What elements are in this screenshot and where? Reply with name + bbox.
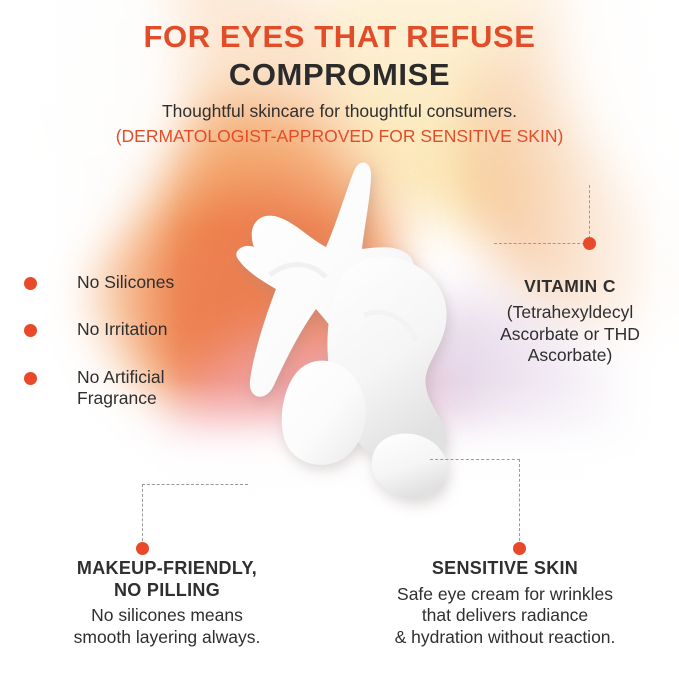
dermatologist-note: (DERMATOLOGIST-APPROVED FOR SENSITIVE SK… (0, 126, 679, 148)
leader-segment-horizontal (430, 459, 520, 460)
list-item[interactable]: No Silicones (50, 272, 174, 293)
callout-body: No silicones means smooth layering alway… (22, 605, 312, 649)
headline-secondary: COMPROMISE (0, 57, 679, 93)
callout-sensitive-skin: SENSITIVE SKIN Safe eye cream for wrinkl… (340, 558, 670, 649)
subheadline: Thoughtful skincare for thoughtful consu… (0, 101, 679, 123)
callout-subtitle: (Tetrahexyldecyl Ascorbate or THD Ascorb… (470, 302, 670, 367)
leader-segment-vertical (519, 459, 520, 546)
callout-title: MAKEUP-FRIENDLY, NO PILLING (22, 558, 312, 601)
leader-segment-vertical (589, 185, 590, 244)
list-item-label: No Silicones (50, 272, 174, 293)
callout-title: VITAMIN C (470, 276, 670, 297)
list-item-label: No Irritation (50, 319, 174, 340)
callout-vitamin-c: VITAMIN C (Tetrahexyldecyl Ascorbate or … (470, 276, 670, 367)
list-item[interactable]: No Artificial Fragrance (50, 367, 174, 410)
list-item[interactable]: No Irritation (50, 319, 174, 340)
headline-primary: FOR EYES THAT REFUSE (0, 20, 679, 55)
callout-dot-vitamin-c[interactable] (583, 237, 596, 250)
header-block: FOR EYES THAT REFUSE COMPROMISE Thoughtf… (0, 20, 679, 148)
callout-dot-makeup[interactable] (136, 542, 149, 555)
leader-segment-horizontal (494, 243, 590, 244)
list-item-label: No Artificial Fragrance (50, 367, 174, 410)
leader-segment-horizontal (142, 484, 248, 485)
callout-body: Safe eye cream for wrinkles that deliver… (340, 584, 670, 650)
callout-dot-sensitive[interactable] (513, 542, 526, 555)
bullet-dot-icon (24, 372, 37, 385)
callout-title: SENSITIVE SKIN (340, 558, 670, 580)
callout-makeup-friendly: MAKEUP-FRIENDLY, NO PILLING No silicones… (22, 558, 312, 649)
benefits-list: No Silicones No Irritation No Artificial… (50, 272, 174, 435)
infographic-canvas: FOR EYES THAT REFUSE COMPROMISE Thoughtf… (0, 0, 679, 679)
leader-segment-vertical (142, 484, 143, 546)
bullet-dot-icon (24, 277, 37, 290)
